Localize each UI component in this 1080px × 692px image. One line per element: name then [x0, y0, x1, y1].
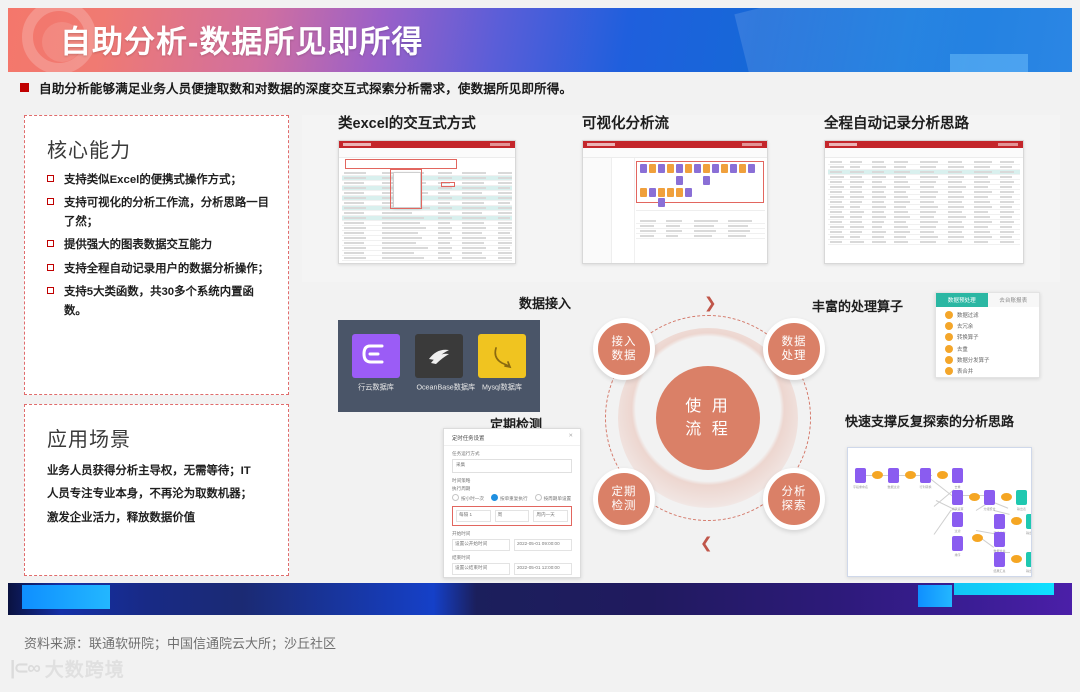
- operator-icon: [945, 311, 953, 319]
- dag-node-ellipse[interactable]: [1011, 555, 1022, 563]
- list-item: 支持可视化的分析工作流，分析思路一目了然；: [47, 194, 270, 231]
- page-title: 自助分析-数据所见即所得: [60, 17, 423, 62]
- dialog-title: 定时任务设置: [452, 436, 484, 442]
- spreadsheet-body: [339, 158, 515, 264]
- dag-node-rect[interactable]: 字段映射: [994, 514, 1005, 529]
- screenshot-analysis-dag: 字段重命名 数据过滤 行列转换 去重 关联运算 分组聚合 输出表 过滤 排序 字…: [847, 447, 1032, 577]
- dag-node-rect[interactable]: 数据合并: [994, 532, 1005, 547]
- end-mode-select[interactable]: 设置公结束时间: [452, 563, 510, 575]
- list-item: 提供强大的图表数据交互能力: [47, 236, 270, 254]
- radio-option[interactable]: 按周期单设置: [535, 494, 572, 502]
- start-date-input[interactable]: 2022-05-01 09:00:00: [514, 539, 572, 551]
- dag-node-output[interactable]: 输出表3: [1026, 552, 1032, 567]
- list-item[interactable]: 数据过滤: [945, 311, 1039, 319]
- db-item-oceanbase[interactable]: OceanBase数据库: [415, 334, 463, 393]
- tile-excel: 类excel的交互式方式: [338, 140, 516, 264]
- dag-node-rect[interactable]: 过滤: [952, 512, 963, 527]
- operator-label: 数据分发算子: [957, 356, 989, 364]
- dag-node-rect[interactable]: 排序: [952, 536, 963, 551]
- slide-header: 自助分析-数据所见即所得: [8, 8, 1072, 72]
- bottom-accent-2: [918, 585, 952, 607]
- radio-icon: [452, 494, 459, 501]
- interval-count-input[interactable]: 每隔 1: [456, 510, 491, 522]
- scene-card-body: 业务人员获得分析主导权，无需等待；IT 人员专注专业本身，不再沦为取数机器； 激…: [47, 460, 266, 530]
- node-line1: 定期: [612, 485, 637, 499]
- scene-card-heading: 应用场景: [47, 423, 288, 452]
- end-date-value: 2022-05-01 12:00:00: [517, 565, 560, 570]
- dag-node-ellipse[interactable]: [1001, 493, 1012, 501]
- app-toolbar: [339, 148, 515, 158]
- autorecord-body: [825, 158, 1023, 264]
- dag-node-rect[interactable]: 数据过滤: [888, 468, 899, 483]
- application-scenario-card: 应用场景 业务人员获得分析主导权，无需等待；IT 人员专注专业本身，不再沦为取数…: [24, 404, 289, 576]
- node-line1: 分析: [782, 485, 807, 499]
- tile-workflow: 可视化分析流: [582, 140, 768, 264]
- dropdown-highlight-box: [390, 169, 422, 209]
- tab-preprocess[interactable]: 数据预处理: [936, 293, 988, 307]
- radio-icon-selected: [491, 494, 498, 501]
- operator-icon: [945, 322, 953, 330]
- scene-line: 人员专注专业本身，不再沦为取数机器；: [47, 483, 266, 506]
- database-panel: 行云数据库 OceanBase数据库 Mysql数据库: [338, 320, 540, 412]
- bottom-accent-1: [22, 585, 110, 609]
- hollow-square-icon: [47, 240, 54, 247]
- workflow-left-nav: [583, 158, 612, 264]
- start-time-label: 开始时间: [452, 531, 572, 537]
- operator-label: 数据过滤: [957, 311, 979, 319]
- label-data-access: 数据接入: [519, 293, 571, 312]
- dolphin-glyph: [478, 334, 526, 378]
- start-mode-value: 设置公开始时间: [455, 541, 487, 546]
- flow-node-analysis-explore[interactable]: 分析 探索: [763, 468, 825, 530]
- radio-label: 按小时一次: [461, 496, 484, 501]
- interval-highlight-box: 每隔 1 周 周内一天: [452, 506, 572, 526]
- dag-node-ellipse[interactable]: [872, 471, 883, 479]
- node-line2: 探索: [782, 499, 807, 513]
- node-line2: 检测: [612, 499, 637, 513]
- watermark: |⊂∞ 大数跨境: [10, 655, 125, 682]
- screenshot-excel: [338, 140, 516, 264]
- workflow-result-table: [636, 210, 765, 264]
- xingyun-db-icon: [352, 334, 400, 378]
- workflow-body: [583, 158, 767, 264]
- app-titlebar: [339, 141, 515, 148]
- list-item[interactable]: 转换算子: [945, 333, 1039, 341]
- list-item[interactable]: 去重: [945, 345, 1039, 353]
- dag-node-rect[interactable]: 去重: [952, 468, 963, 483]
- dag-node-ellipse[interactable]: [1011, 517, 1022, 525]
- oceanbase-db-icon: [415, 334, 463, 378]
- dag-node-rect[interactable]: 分组聚合: [984, 490, 995, 505]
- hollow-square-icon: [47, 287, 54, 294]
- operator-icon: [945, 356, 953, 364]
- start-date-value: 2022-05-01 09:00:00: [517, 541, 560, 546]
- screenshot-workflow: [582, 140, 768, 264]
- core-capability-card: 核心能力 支持类似Excel的便携式操作方式； 支持可视化的分析工作流，分析思路…: [24, 115, 289, 395]
- bullet-text: 支持类似Excel的便携式操作方式；: [64, 174, 242, 186]
- tile-autorecord: 全程自动记录分析思路: [824, 140, 1024, 264]
- dag-node-output[interactable]: 输出表2: [1026, 514, 1032, 529]
- input-value: 采集: [456, 462, 465, 467]
- oceanbase-glyph: [415, 334, 463, 378]
- tile-caption: 可视化分析流: [582, 112, 669, 133]
- slide-bottom-bar: [8, 583, 1072, 615]
- radio-group: 按小时一次 按单重复执行 按周期单设置: [452, 494, 572, 502]
- flow-center-line1: 使 用: [685, 395, 730, 418]
- interval-value: 每隔 1: [459, 512, 472, 517]
- flow-node-access-data[interactable]: 接入 数据: [593, 318, 655, 380]
- list-item: 支持全程自动记录用户的数据分析操作；: [47, 260, 270, 278]
- field-label: 时间策略: [452, 478, 572, 484]
- interval-unit-select[interactable]: 周: [495, 510, 530, 522]
- hollow-square-icon: [47, 175, 54, 182]
- hollow-square-icon: [47, 198, 54, 205]
- task-mode-input[interactable]: 采集: [452, 459, 572, 473]
- app-titlebar: [825, 141, 1023, 148]
- operator-panel: 数据预处理 去台账报表 数据过滤 去冗余 转换算子 去重 数据分发算子 表合并: [935, 292, 1040, 378]
- core-card-heading: 核心能力: [47, 134, 288, 163]
- node-line1: 数据: [782, 335, 807, 349]
- label-rich-operators: 丰富的处理算子: [812, 296, 903, 315]
- operator-label: 去重: [957, 345, 968, 353]
- flow-node-periodic-check[interactable]: 定期 检测: [593, 468, 655, 530]
- dag-node-rect[interactable]: 行列转换: [920, 468, 931, 483]
- db-item-xingyun[interactable]: 行云数据库: [352, 334, 400, 393]
- operator-label: 去冗余: [957, 322, 973, 330]
- flow-node-data-processing[interactable]: 数据 处理: [763, 318, 825, 380]
- dag-node-ellipse[interactable]: [969, 493, 980, 501]
- operator-label: 表合并: [957, 367, 973, 375]
- operator-icon: [945, 345, 953, 353]
- node-line2: 处理: [782, 349, 807, 363]
- start-time-row: 设置公开始时间 2022-05-01 09:00:00: [452, 539, 572, 551]
- spreadsheet-rows: [342, 171, 512, 261]
- end-time-label: 结束时间: [452, 555, 572, 561]
- value-highlight-box: [441, 182, 455, 187]
- close-icon[interactable]: ✕: [568, 433, 573, 439]
- dag-node-ellipse[interactable]: [905, 471, 916, 479]
- dialog-body: 任务运行方式 采集 时间策略 执行周期 按小时一次 按单重复执行 按周期单设置 …: [444, 446, 580, 578]
- end-time-row: 设置公结束时间 2022-05-01 12:00:00: [452, 563, 572, 575]
- hollow-square-icon: [47, 264, 54, 271]
- flow-center-line2: 流 程: [685, 418, 730, 441]
- watermark-text: 大数跨境: [45, 655, 125, 682]
- field-label: 执行周期: [452, 486, 572, 492]
- app-titlebar: [583, 141, 767, 148]
- dag-node-rect[interactable]: 关联运算: [952, 490, 963, 505]
- dialog-title-bar: 定时任务设置 ✕: [444, 429, 580, 446]
- bullet-text: 支持可视化的分析工作流，分析思路一目了然；: [64, 197, 269, 227]
- db-label: Mysql数据库: [479, 382, 524, 392]
- list-item: 支持类似Excel的便携式操作方式；: [47, 171, 270, 189]
- toolbar-highlight-box: [345, 159, 457, 169]
- tile-caption: 类excel的交互式方式: [338, 112, 476, 133]
- record-rows: [828, 160, 1020, 245]
- bullet-text: 提供强大的图表数据交互能力: [64, 239, 212, 251]
- operator-icon: [945, 333, 953, 341]
- header-chip-decoration: [950, 54, 1028, 72]
- db-label: 行云数据库: [353, 382, 398, 392]
- app-toolbar: [825, 148, 1023, 158]
- db-label: OceanBase数据库: [416, 382, 461, 392]
- watermark-logo-icon: |⊂∞: [10, 657, 39, 680]
- app-toolbar: [583, 148, 767, 158]
- tile-caption: 全程自动记录分析思路: [824, 112, 969, 133]
- operator-tab-bar: 数据预处理 去台账报表: [936, 293, 1039, 307]
- label-fast-support: 快速支撑反复探索的分析思路: [845, 411, 1014, 430]
- flow-arrow-bottom-icon: ❮: [700, 536, 713, 551]
- operator-list: 数据过滤 去冗余 转换算子 去重 数据分发算子 表合并: [936, 307, 1039, 375]
- dag-node-rect[interactable]: 结果汇总: [994, 552, 1005, 567]
- scene-line: 业务人员获得分析主导权，无需等待；IT: [47, 460, 266, 483]
- usage-flow-diagram: ❯ ❮ 使 用 流 程 接入 数据 数据 处理 定期 检测 分析 探索: [588, 300, 828, 565]
- core-bullet-list: 支持类似Excel的便携式操作方式； 支持可视化的分析工作流，分析思路一目了然；…: [25, 171, 288, 320]
- screenshot-schedule-dialog: 定时任务设置 ✕ 任务运行方式 采集 时间策略 执行周期 按小时一次 按单重复执…: [443, 428, 581, 578]
- db-item-mysql[interactable]: Mysql数据库: [478, 334, 526, 393]
- list-item[interactable]: 去冗余: [945, 322, 1039, 330]
- slide-root: 自助分析-数据所见即所得 自助分析能够满足业务人员便捷取数和对数据的深度交互式探…: [0, 0, 1080, 692]
- tab-ledger-report[interactable]: 去台账报表: [988, 293, 1040, 307]
- radio-label: 按单重复执行: [500, 496, 528, 501]
- dag-node-output[interactable]: 输出表: [1016, 490, 1027, 505]
- mysql-db-icon: [478, 334, 526, 378]
- radio-icon: [535, 494, 542, 501]
- source-note: 资料来源：联通软研院；中国信通院云大所；沙丘社区: [24, 633, 336, 652]
- operator-icon: [945, 367, 953, 375]
- bullet-text: 支持全程自动记录用户的数据分析操作；: [64, 263, 269, 275]
- end-date-input[interactable]: 2022-05-01 12:00:00: [514, 563, 572, 575]
- node-line1: 接入: [612, 335, 637, 349]
- bottom-accent-3: [954, 583, 1054, 595]
- scene-line: 激发企业活力，释放数据价值: [47, 507, 266, 530]
- subtitle-row: 自助分析能够满足业务人员便捷取数和对数据的深度交互式探索分析需求，使数据所见即所…: [20, 78, 572, 97]
- bullet-text: 支持5大类函数，共30多个系统内置函数。: [64, 286, 254, 316]
- radio-label: 按周期单设置: [544, 496, 572, 501]
- flow-arrow-top-icon: ❯: [704, 296, 717, 311]
- end-mode-value: 设置公结束时间: [455, 565, 487, 570]
- dag-edge: [934, 510, 952, 535]
- start-mode-select[interactable]: 设置公开始时间: [452, 539, 510, 551]
- workflow-component-list: [612, 158, 635, 264]
- flow-center-node: 使 用 流 程: [656, 366, 760, 470]
- dag-node-rect[interactable]: 字段重命名: [855, 468, 866, 483]
- operator-label: 转换算子: [957, 333, 979, 341]
- field-label: 任务运行方式: [452, 451, 572, 457]
- xingyun-glyph: [352, 334, 400, 378]
- radio-option[interactable]: 按小时一次: [452, 494, 484, 502]
- dag-node-ellipse[interactable]: [937, 471, 948, 479]
- list-item: 支持5大类函数，共30多个系统内置函数。: [47, 283, 270, 320]
- subtitle-text: 自助分析能够满足业务人员便捷取数和对数据的深度交互式探索分析需求，使数据所见即所…: [39, 78, 572, 97]
- radio-option[interactable]: 按单重复执行: [491, 494, 528, 502]
- interval-unit: 周: [498, 512, 503, 517]
- square-bullet-icon: [20, 83, 29, 92]
- interval-day-select[interactable]: 周内一天: [533, 510, 568, 522]
- node-line2: 数据: [612, 349, 637, 363]
- list-item[interactable]: 数据分发算子: [945, 356, 1039, 364]
- interval-day: 周内一天: [536, 512, 554, 517]
- list-item[interactable]: 表合并: [945, 367, 1039, 375]
- dag-node-ellipse[interactable]: [972, 534, 983, 542]
- screenshot-autorecord: [824, 140, 1024, 264]
